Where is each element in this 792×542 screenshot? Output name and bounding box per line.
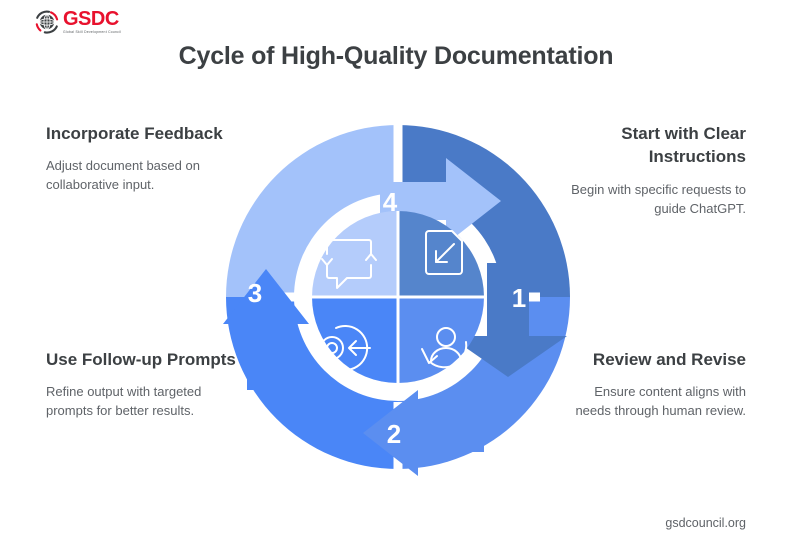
step-1-title: Start with Clear Instructions [556,122,746,169]
step-3-description: Refine output with targeted prompts for … [46,383,236,421]
page-title: Cycle of High-Quality Documentation [0,42,792,71]
step-2-text-block: Review and Revise Ensure content aligns … [556,348,746,421]
step-3-title: Use Follow-up Prompts [46,348,236,371]
step-2-description: Ensure content aligns with needs through… [556,383,746,421]
cycle-number-4: 4 [383,187,398,217]
inner-quadrant-2[interactable] [398,297,508,407]
footer-url: gsdcouncil.org [665,516,746,530]
cycle-number-3: 3 [248,278,262,308]
gsdc-tagline: Global Skill Development Council [63,31,121,35]
cycle-diagram: 1 2 3 4 [222,96,574,486]
gsdc-globe-icon [34,9,60,35]
gsdc-wordmark-text: GSDC [63,9,121,29]
step-1-description: Begin with specific requests to guide Ch… [556,181,746,219]
cycle-number-1: 1 [512,283,526,313]
inner-quadrant-1[interactable] [398,196,508,297]
gsdc-wordmark: GSDC Global Skill Development Council [63,9,121,34]
step-2-title: Review and Revise [556,348,746,371]
step-1-text-block: Start with Clear Instructions Begin with… [556,122,746,219]
cycle-number-2: 2 [387,419,401,449]
step-3-text-block: Use Follow-up Prompts Refine output with… [46,348,236,421]
step-4-text-block: Incorporate Feedback Adjust document bas… [46,122,236,195]
step-4-description: Adjust document based on collaborative i… [46,157,236,195]
step-4-title: Incorporate Feedback [46,122,236,145]
gsdc-logo: GSDC Global Skill Development Council [34,7,144,37]
